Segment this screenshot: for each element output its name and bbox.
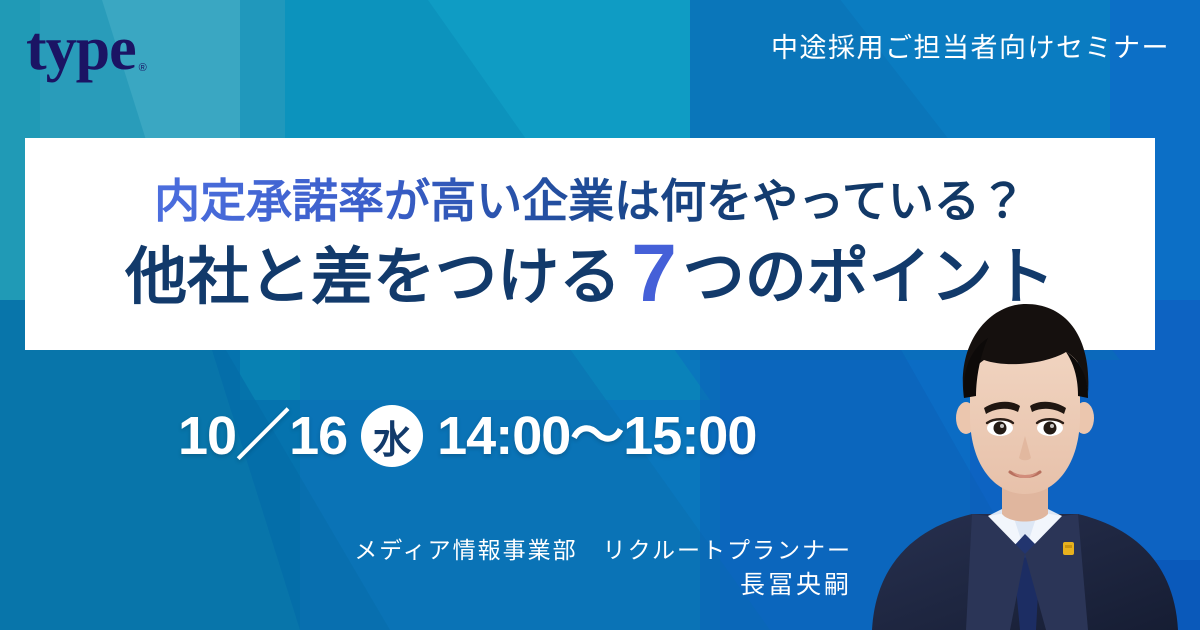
presenter-name: 長冨央嗣 [354, 567, 852, 603]
seminar-category-label: 中途採用ご担当者向けセミナー [771, 26, 1170, 65]
schedule-time: 14:00〜15:00 [437, 409, 756, 463]
logo-wordmark: type [26, 18, 136, 80]
title-highlight-number: 7 [631, 233, 677, 315]
title-line-1: 内定承諾率が高い企業は何をやっている？ [154, 176, 1026, 227]
presenter-photo [860, 290, 1190, 630]
seminar-banner: type ® 中途採用ご担当者向けセミナー 内定承諾率が高い企業は何をやっている… [0, 0, 1200, 630]
presenter-portrait-illustration [860, 290, 1190, 630]
weekday-badge: 水 [361, 405, 423, 467]
schedule-row: 10／16 水 14:00〜15:00 [178, 405, 756, 467]
title-line-2-prefix: 他社と差をつける [125, 245, 621, 310]
registered-trademark-icon: ® [139, 62, 147, 74]
type-logo: type ® [26, 18, 147, 80]
schedule-date: 10／16 [178, 409, 347, 463]
presenter-role: メディア情報事業部 リクルートプランナー [354, 534, 852, 567]
presenter-info: メディア情報事業部 リクルートプランナー 長冨央嗣 [354, 534, 852, 604]
